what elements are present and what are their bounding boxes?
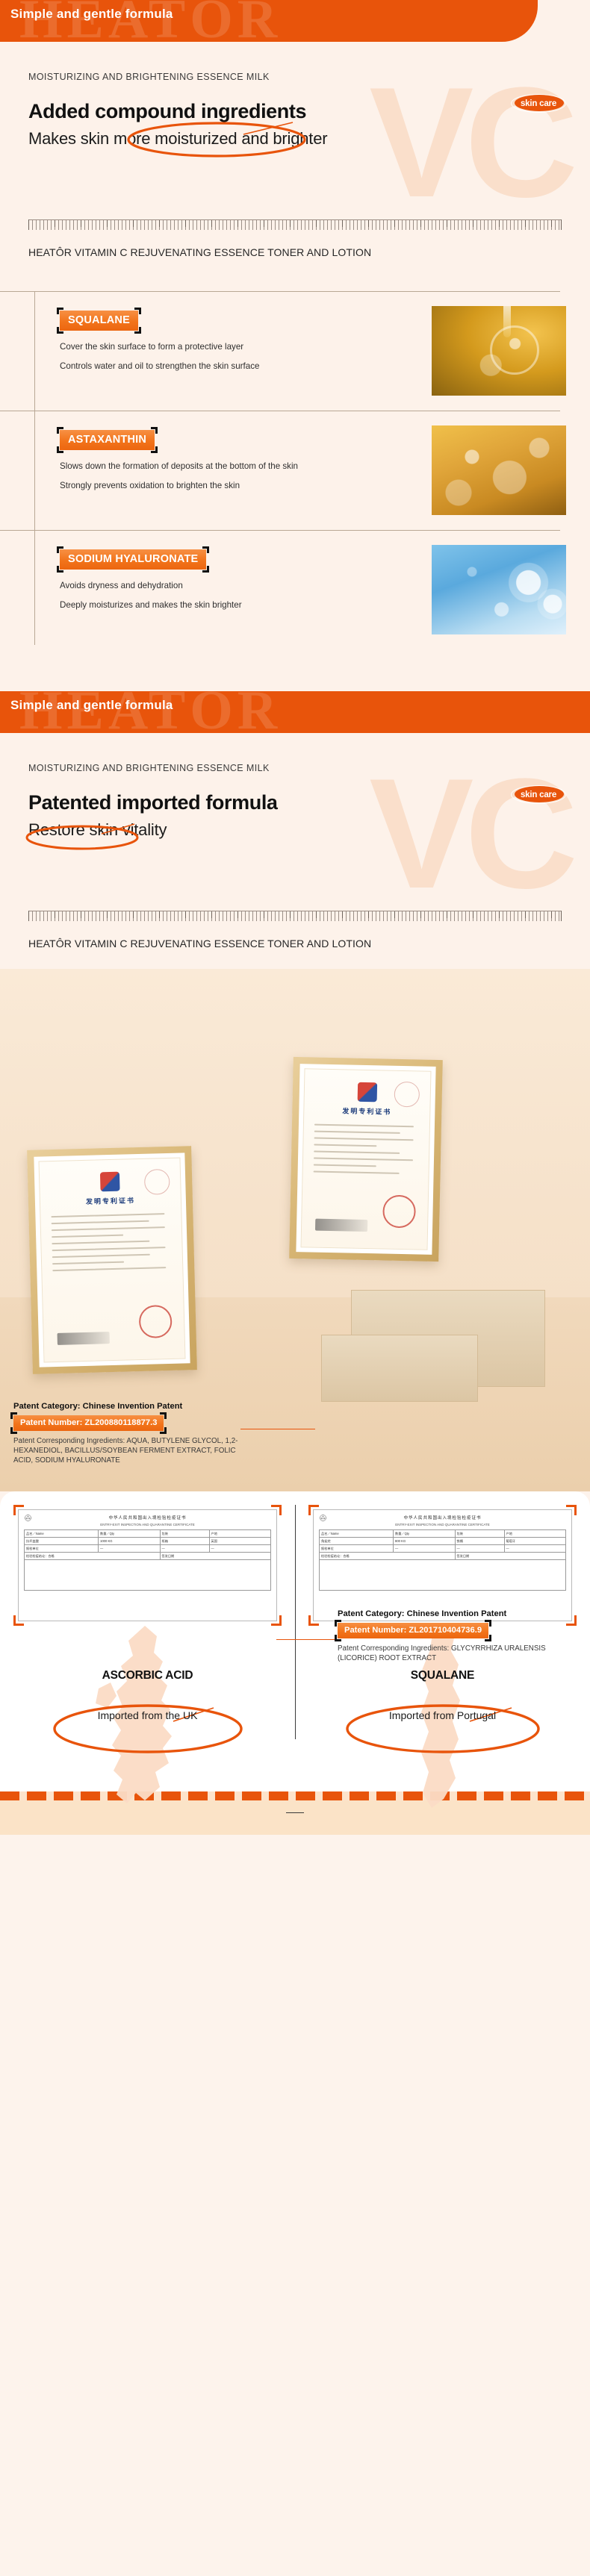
ingredient-tag-label: ASTAXANTHIN xyxy=(60,430,155,450)
ingredient-card-list: SQUALANE Cover the skin surface to form … xyxy=(0,291,590,691)
ruler-divider-1 xyxy=(28,219,562,231)
section2-subheadline: Restore skin vitality xyxy=(28,819,590,841)
corner-bracket-tr-icon xyxy=(202,546,209,553)
framed-certificate-back: 发明专利证书 xyxy=(289,1057,443,1262)
skin-care-badge: skin care xyxy=(511,785,566,804)
cardboard-box-front xyxy=(321,1335,478,1402)
ruler-cap-left xyxy=(28,219,29,230)
corner-bracket-tl-icon xyxy=(57,427,63,434)
inspection-certificate-sheet: 中华人民共和国出入境检验检疫证书 ENTRY-EXIT INSPECTION A… xyxy=(18,1509,277,1621)
ruler-cap-left xyxy=(28,911,29,921)
amber-oil-bubbles-photo xyxy=(432,425,566,515)
section2-banner-label: Simple and gentle formula xyxy=(10,698,173,713)
table-cell: 抗坏血酸 xyxy=(25,1538,99,1544)
corner-bracket-tr-icon xyxy=(134,308,141,314)
framed-certificate-front: 发明专利证书 xyxy=(27,1146,197,1374)
certificate-doc-title: 中华人民共和国出入境检验检疫证书 xyxy=(24,1515,271,1521)
cert-line xyxy=(314,1124,414,1128)
section2-spacer xyxy=(0,949,590,969)
corner-bracket-br-icon xyxy=(160,1427,167,1434)
cnipa-emblem-icon xyxy=(358,1082,378,1103)
patent-category: Patent Category: Chinese Invention Paten… xyxy=(13,1402,252,1411)
table-cell: 签发日期 xyxy=(456,1553,567,1559)
table-row xyxy=(320,1560,566,1591)
patent-number: Patent Number: ZL200880118877.3 xyxy=(13,1415,164,1431)
patent-ingredients: Patent Corresponding Ingredients: AQUA, … xyxy=(13,1436,252,1465)
corner-bracket-bl-icon xyxy=(335,1635,341,1641)
ingredient-card-sodium-hyaluronate: SODIUM HYALURONATE Avoids dryness and de… xyxy=(0,530,590,649)
table-cell: 包装 xyxy=(161,1530,210,1537)
cert-line xyxy=(314,1151,400,1154)
table-cell xyxy=(25,1560,271,1590)
certificate-document: 发明专利证书 xyxy=(38,1158,185,1363)
table-cell: 数量／Qty xyxy=(99,1530,161,1537)
origin-ingredient-name: SQUALANE xyxy=(308,1669,577,1682)
table-row: 品名／Name 数量／Qty 包装 产地 xyxy=(25,1530,271,1538)
section2-headline: Patented imported formula xyxy=(28,790,590,815)
table-cell: 铁桶 xyxy=(456,1538,505,1544)
ingredient-card-astaxanthin: ASTAXANTHIN Slows down the formation of … xyxy=(0,411,590,530)
corner-bracket-bl-icon xyxy=(10,1427,17,1434)
cert-line xyxy=(314,1171,400,1174)
cert-line xyxy=(314,1138,414,1141)
origin-ellipse-icon xyxy=(13,1690,282,1757)
customs-emblem-icon xyxy=(320,1515,326,1521)
ingredient-tag-box: SQUALANE xyxy=(60,311,138,331)
table-cell: 英国 xyxy=(210,1538,272,1544)
patent-number: Patent Number: ZL201710404736.9 xyxy=(338,1623,488,1638)
section1-headline: Added compound ingredients xyxy=(28,99,590,124)
table-row: 检验检疫结论：合格 签发日期 xyxy=(25,1553,271,1560)
table-cell: — xyxy=(505,1545,567,1552)
table-row: 检验检疫结论：合格 签发日期 xyxy=(320,1553,566,1560)
ingredient-photo-sodium-hyaluronate xyxy=(432,545,566,634)
certificate-red-seal-icon xyxy=(382,1194,416,1228)
footer-cream-base xyxy=(0,1800,590,1835)
badge-label: skin care xyxy=(511,785,566,804)
patent-ingredients: Patent Corresponding Ingredients: GLYCYR… xyxy=(338,1644,584,1663)
certificate-table: 品名／Name 数量／Qty 包装 产地 角鲨烷 800 KG 铁桶 葡萄牙 xyxy=(319,1529,566,1591)
table-cell: 数量／Qty xyxy=(394,1530,456,1537)
origin-callout: Imported from Portugal xyxy=(308,1690,577,1757)
corner-bracket-tl-icon xyxy=(10,1412,17,1419)
cert-line xyxy=(314,1131,400,1134)
corner-bracket-bl-icon xyxy=(57,327,63,334)
section-ingredients: HEATÔR Simple and gentle formula MOISTUR… xyxy=(0,0,590,691)
table-row: 报检单位 — — — xyxy=(25,1545,271,1553)
badge-label: skin care xyxy=(511,94,566,113)
cert-line xyxy=(52,1226,165,1231)
table-row xyxy=(25,1560,271,1591)
ingredient-tag-label: SQUALANE xyxy=(60,311,138,331)
certificate-signature xyxy=(58,1332,110,1345)
oil-ring-shape xyxy=(490,325,539,375)
table-cell: 800 KG xyxy=(394,1538,456,1544)
leader-line-2 xyxy=(276,1639,336,1640)
ruler-ticks-large xyxy=(28,219,562,227)
certificate-red-seal-icon xyxy=(139,1305,173,1338)
inspection-certificate-sheet: 中华人民共和国出入境检验检疫证书 ENTRY-EXIT INSPECTION A… xyxy=(313,1509,572,1621)
cert-line xyxy=(52,1247,166,1251)
table-cell: 角鲨烷 xyxy=(320,1538,394,1544)
table-cell: 1000 KG xyxy=(99,1538,161,1544)
table-cell: — xyxy=(394,1545,456,1552)
certificate-doc-title: 中华人民共和国出入境检验检疫证书 xyxy=(319,1515,566,1521)
origin-ingredient-name: ASCORBIC ACID xyxy=(13,1669,282,1682)
inspection-certificate-box: 中华人民共和国出入境检验检疫证书 ENTRY-EXIT INSPECTION A… xyxy=(13,1505,282,1626)
corner-bracket-br-icon xyxy=(202,566,209,573)
patent-label-1: Patent Category: Chinese Invention Paten… xyxy=(13,1402,252,1465)
table-cell: — xyxy=(210,1545,272,1552)
inspection-certificate-box: 中华人民共和国出入境检验检疫证书 ENTRY-EXIT INSPECTION A… xyxy=(308,1505,577,1626)
footer-dashed-strip xyxy=(0,1791,590,1800)
blue-water-droplets-photo xyxy=(432,545,566,634)
table-cell: 签发日期 xyxy=(161,1553,272,1559)
section1-banner-label: Simple and gentle formula xyxy=(10,7,173,22)
ingredient-photo-astaxanthin xyxy=(432,425,566,515)
table-row: 报检单位 — — — xyxy=(320,1545,566,1553)
corner-bracket-tl-icon xyxy=(335,1620,341,1627)
certificate-mat: 发明专利证书 xyxy=(296,1064,435,1255)
table-cell: 产地 xyxy=(210,1530,272,1537)
ruler-cap-right xyxy=(561,219,562,230)
patent-number-box: Patent Number: ZL201710404736.9 xyxy=(338,1623,488,1638)
cert-line xyxy=(314,1164,376,1167)
cert-line xyxy=(314,1144,376,1147)
certificate-document: 发明专利证书 xyxy=(301,1068,432,1250)
corner-bracket-tr-icon xyxy=(151,427,158,434)
product-detail-page: HEATÔR Simple and gentle formula MOISTUR… xyxy=(0,0,590,1835)
certificate-mat: 发明专利证书 xyxy=(34,1153,190,1367)
table-cell: — xyxy=(99,1545,161,1552)
table-cell: 产地 xyxy=(505,1530,567,1537)
table-row: 品名／Name 数量／Qty 包装 产地 xyxy=(320,1530,566,1538)
corner-bracket-bl-icon xyxy=(57,446,63,453)
table-row: 角鲨烷 800 KG 铁桶 葡萄牙 xyxy=(320,1538,566,1545)
corner-bracket-tl-icon xyxy=(57,546,63,553)
certificate-body-lines xyxy=(40,1204,182,1272)
table-cell: 品名／Name xyxy=(320,1530,394,1537)
section2-product-line: HEATÔR VITAMIN C REJUVENATING ESSENCE TO… xyxy=(0,923,590,949)
table-cell: 检验检疫结论：合格 xyxy=(320,1553,456,1559)
table-cell: 报检单位 xyxy=(320,1545,394,1552)
cnipa-emblem-icon xyxy=(100,1172,120,1192)
cert-line xyxy=(52,1267,166,1271)
table-cell: 纸箱 xyxy=(161,1538,210,1544)
origin-text: Imported from Portugal xyxy=(308,1709,577,1721)
ruler-cap-right xyxy=(561,911,562,921)
table-cell: 报检单位 xyxy=(25,1545,99,1552)
corner-bracket-tl-icon xyxy=(57,308,63,314)
ruler-divider-2 xyxy=(28,911,562,923)
corner-bracket-bl-icon xyxy=(57,566,63,573)
ruler-baseline xyxy=(28,219,562,220)
certificate-table: 品名／Name 数量／Qty 包装 产地 抗坏血酸 1000 KG 纸箱 英国 xyxy=(24,1529,271,1591)
ingredient-card-squalane: SQUALANE Cover the skin surface to form … xyxy=(0,291,590,411)
corner-bracket-tr-icon xyxy=(160,1412,167,1419)
cert-line xyxy=(314,1158,413,1161)
corner-bracket-br-icon xyxy=(485,1635,491,1641)
cert-line xyxy=(52,1254,150,1258)
origin-text: Imported from the UK xyxy=(13,1709,282,1721)
table-cell: 品名／Name xyxy=(25,1530,99,1537)
cert-line xyxy=(52,1241,149,1244)
cert-line xyxy=(52,1220,149,1224)
certificate-body-lines xyxy=(303,1114,430,1175)
table-cell: 检验检疫结论：合格 xyxy=(25,1553,161,1559)
corner-bracket-br-icon xyxy=(134,327,141,334)
ruler-baseline xyxy=(28,911,562,911)
certificate-doc-subtitle: ENTRY-EXIT INSPECTION AND QUARANTINE CER… xyxy=(319,1523,566,1526)
customs-emblem-icon xyxy=(25,1515,31,1521)
golden-oil-swirl-photo xyxy=(432,306,566,396)
ingredient-photo-squalane xyxy=(432,306,566,396)
table-cell: 葡萄牙 xyxy=(505,1538,567,1544)
table-cell: — xyxy=(161,1545,210,1552)
panel-bottom-pad xyxy=(0,1757,590,1791)
ingredient-tag-box: SODIUM HYALURONATE xyxy=(60,549,206,570)
table-cell: 包装 xyxy=(456,1530,505,1537)
table-cell xyxy=(320,1560,566,1590)
patent-number-box: Patent Number: ZL200880118877.3 xyxy=(13,1415,164,1431)
origin-ellipse-icon xyxy=(308,1690,577,1757)
certificate-signature xyxy=(315,1219,367,1232)
table-cell: — xyxy=(456,1545,505,1552)
certificate-doc-subtitle: ENTRY-EXIT INSPECTION AND QUARANTINE CER… xyxy=(24,1523,271,1526)
section2-banner: HEATÔR Simple and gentle formula xyxy=(0,691,590,733)
cert-line xyxy=(51,1213,164,1217)
origin-card-ascorbic-acid: 中华人民共和国出入境检验检疫证书 ENTRY-EXIT INSPECTION A… xyxy=(0,1505,295,1757)
section1-product-line: HEATÔR VITAMIN C REJUVENATING ESSENCE TO… xyxy=(0,231,590,258)
ruler-ticks-large xyxy=(28,911,562,918)
corner-bracket-br-icon xyxy=(151,446,158,453)
patent-label-2: Patent Category: Chinese Invention Paten… xyxy=(338,1609,584,1663)
ingredient-tag-label: SODIUM HYALURONATE xyxy=(60,549,206,570)
panel-divider-tick xyxy=(286,1812,304,1813)
cert-line xyxy=(52,1235,123,1238)
section-patents: HEATÔR Simple and gentle formula MOISTUR… xyxy=(0,691,590,1491)
patent-category: Patent Category: Chinese Invention Paten… xyxy=(338,1609,584,1618)
section1-hero: VC skin care Added compound ingredients … xyxy=(0,99,590,194)
origin-callout: Imported from the UK xyxy=(13,1690,282,1757)
corner-bracket-tr-icon xyxy=(485,1620,491,1627)
skin-care-badge: skin care xyxy=(511,94,566,113)
section2-hero: VC skin care Patented imported formula R… xyxy=(0,790,590,885)
section1-banner: HEATÔR Simple and gentle formula xyxy=(0,0,590,42)
section1-subheadline: Makes skin more moisturized and brighter xyxy=(28,128,590,150)
table-row: 抗坏血酸 1000 KG 纸箱 英国 xyxy=(25,1538,271,1545)
cert-line xyxy=(52,1262,124,1265)
ingredient-tag-box: ASTAXANTHIN xyxy=(60,430,155,450)
